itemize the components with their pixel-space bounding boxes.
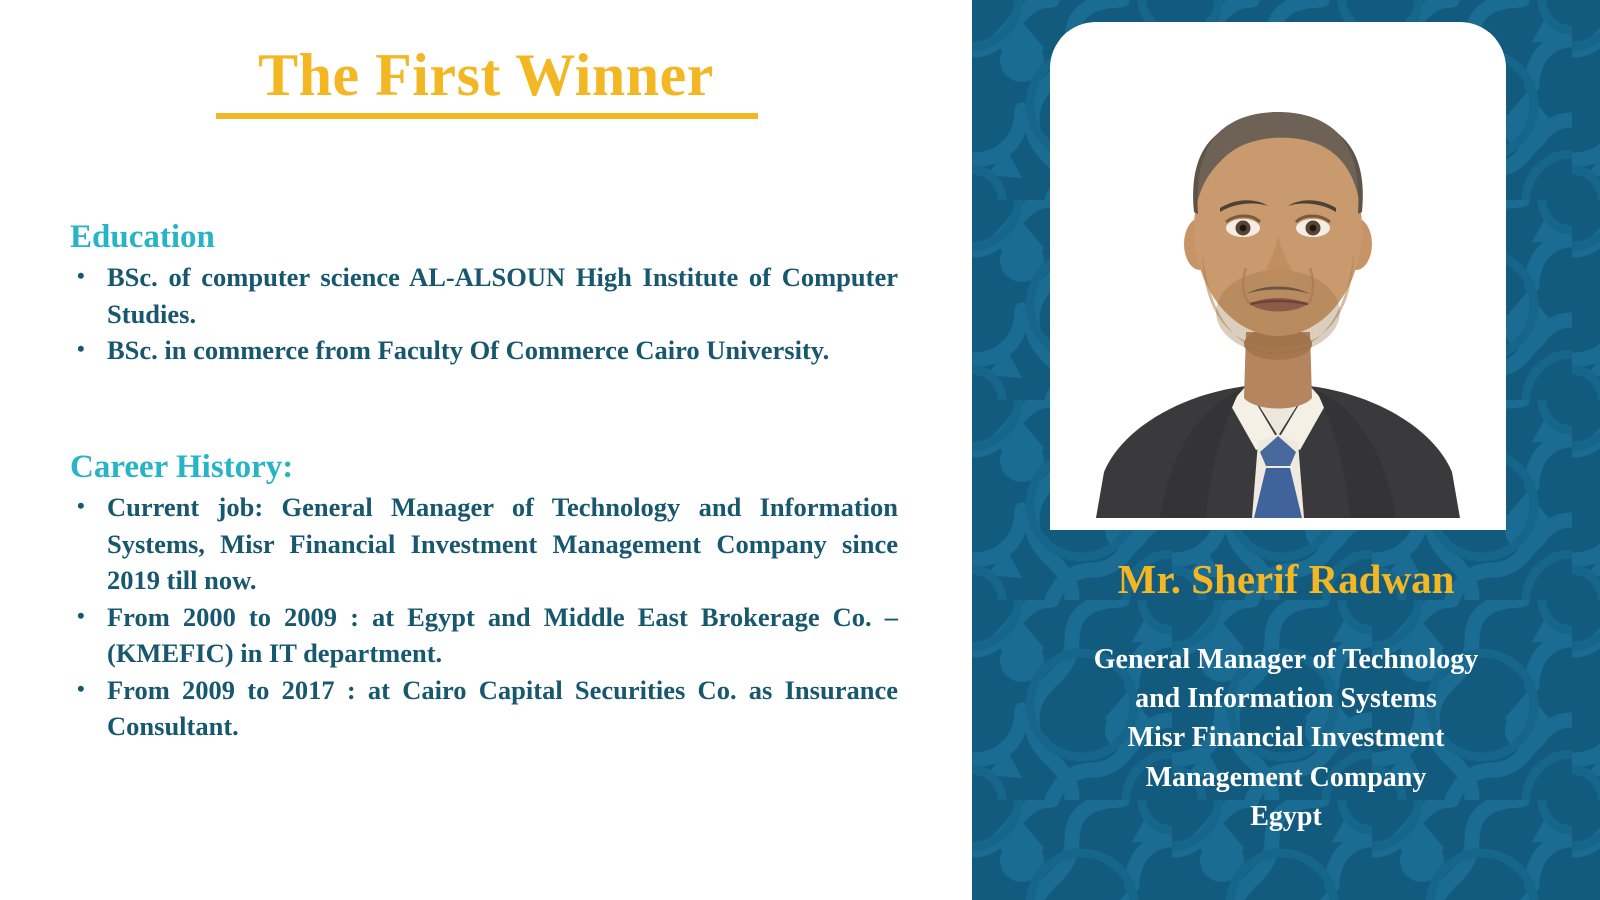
profile-role-line: General Manager of Technology (1002, 640, 1570, 679)
education-heading: Education (70, 218, 898, 257)
career-item-text: From 2000 to 2009 : at Egypt and Middle … (107, 602, 898, 669)
education-item-text: BSc. of computer science AL-ALSOUN High … (107, 262, 898, 329)
education-section: Education BSc. of computer science AL-AL… (70, 218, 898, 369)
list-item: From 2000 to 2009 : at Egypt and Middle … (70, 599, 898, 672)
career-history-section: Career History: Current job: General Man… (70, 448, 898, 745)
career-history-heading: Career History: (70, 448, 898, 487)
profile-role-line: Management Company (1002, 758, 1570, 797)
title-underline (216, 113, 758, 119)
profile-name: Mr. Sherif Radwan (972, 556, 1600, 603)
education-item-text: BSc. in commerce from Faculty Of Commerc… (107, 335, 829, 365)
career-item-text: From 2009 to 2017 : at Cairo Capital Sec… (107, 675, 898, 742)
profile-panel: Mr. Sherif Radwan General Manager of Tec… (972, 0, 1600, 900)
presentation-slide: The First Winner Education BSc. of compu… (0, 0, 1600, 900)
education-bullet-list: BSc. of computer science AL-ALSOUN High … (70, 259, 898, 369)
list-item: BSc. of computer science AL-ALSOUN High … (70, 259, 898, 332)
list-item: BSc. in commerce from Faculty Of Commerc… (70, 332, 898, 369)
profile-role-line: Misr Financial Investment (1002, 718, 1570, 757)
page-title: The First Winner (0, 42, 972, 108)
list-item: From 2009 to 2017 : at Cairo Capital Sec… (70, 672, 898, 745)
profile-role: General Manager of Technology and Inform… (1002, 640, 1570, 836)
avatar (1060, 32, 1496, 518)
profile-photo-frame (1050, 22, 1506, 530)
left-content-pane: The First Winner Education BSc. of compu… (0, 0, 972, 900)
profile-role-line: Egypt (1002, 797, 1570, 836)
career-item-text: Current job: General Manager of Technolo… (107, 492, 898, 595)
portrait-photo (1060, 32, 1496, 518)
career-bullet-list: Current job: General Manager of Technolo… (70, 489, 898, 745)
list-item: Current job: General Manager of Technolo… (70, 489, 898, 599)
profile-role-line: and Information Systems (1002, 679, 1570, 718)
